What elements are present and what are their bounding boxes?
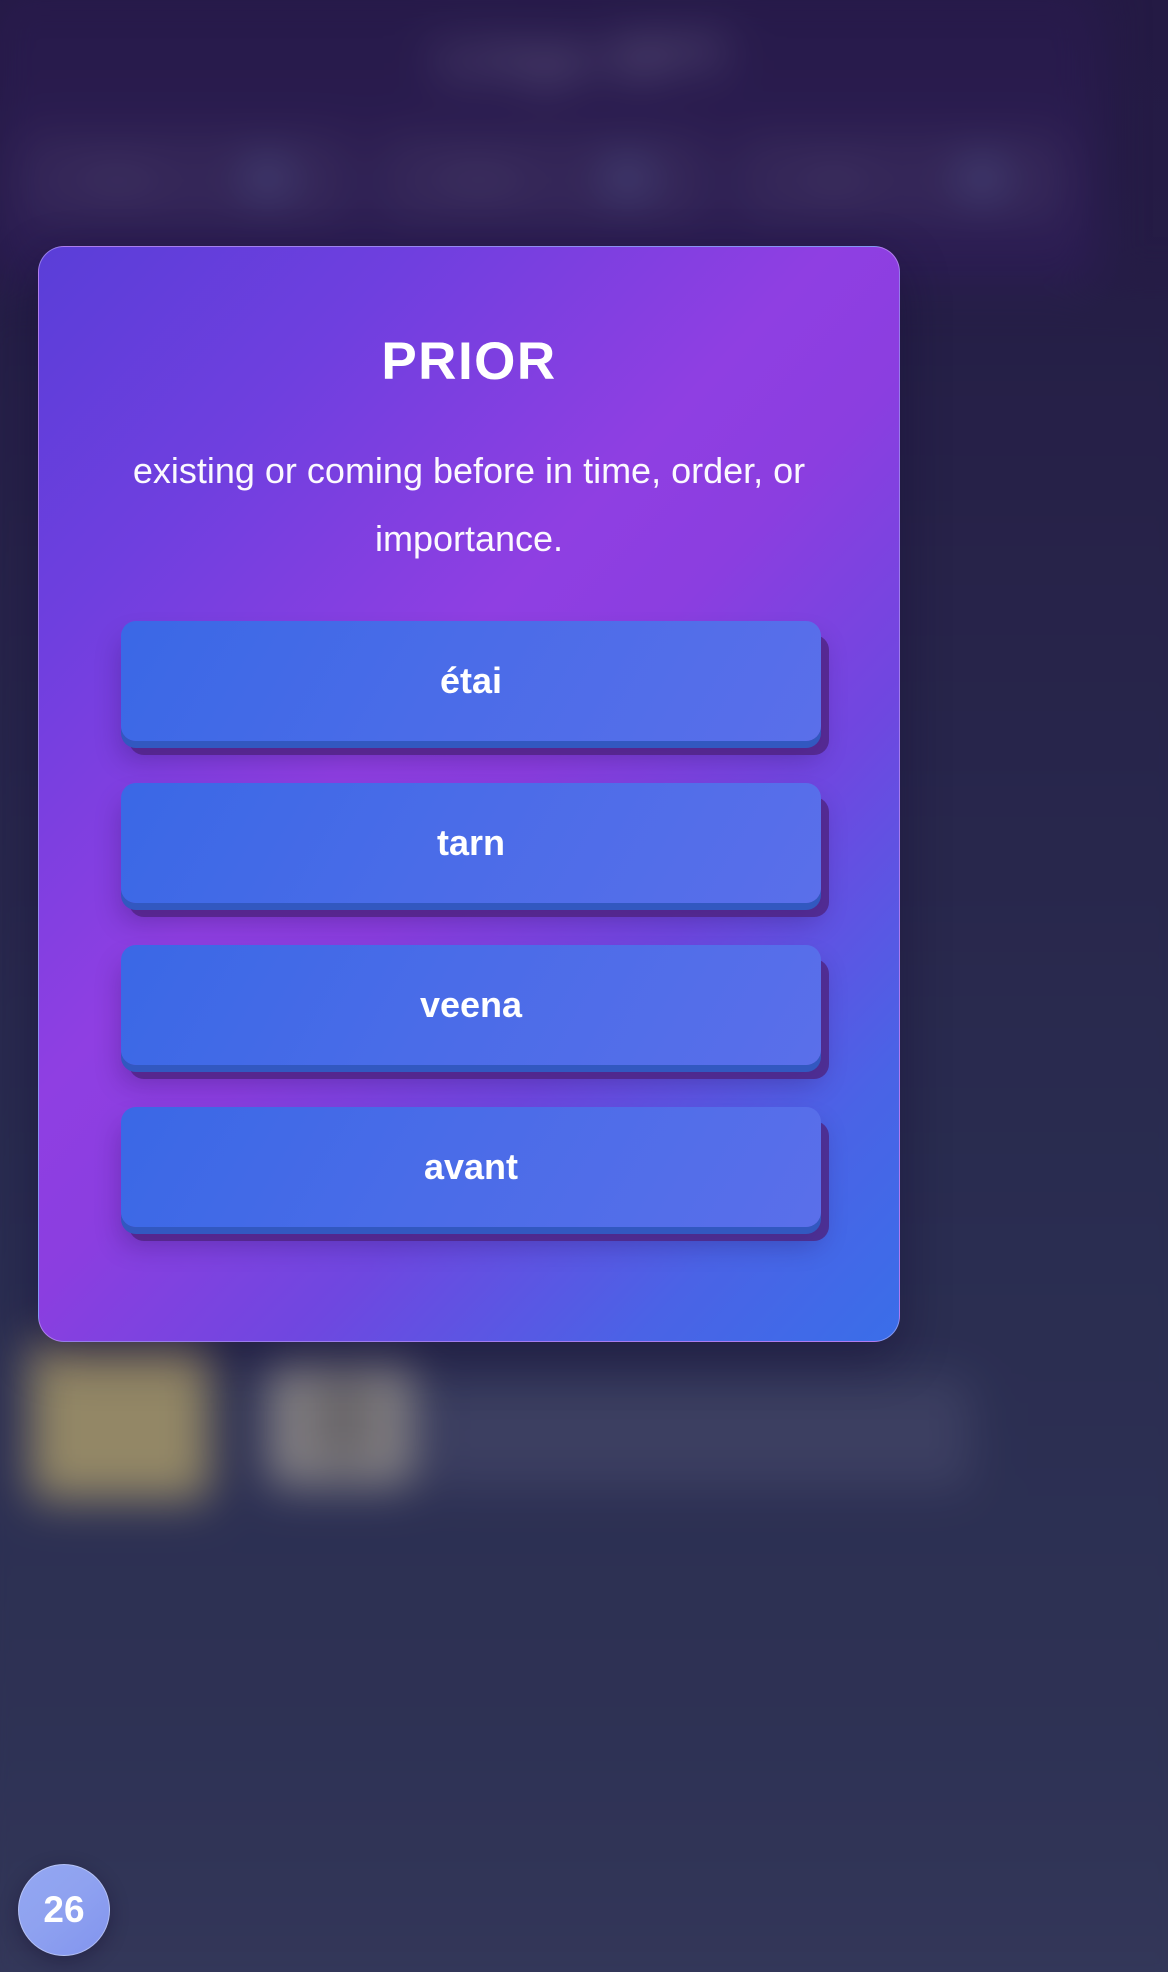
answer-option-4[interactable]: avant xyxy=(121,1107,821,1227)
answer-option-2[interactable]: tarn xyxy=(121,783,821,903)
answer-option-label: tarn xyxy=(121,783,821,903)
answer-option-1[interactable]: étai xyxy=(121,621,821,741)
score-badge[interactable]: 26 xyxy=(18,1864,110,1956)
question-definition: existing or coming before in time, order… xyxy=(109,437,829,572)
answer-options-list: étai tarn veena avant xyxy=(121,621,821,1227)
question-word: PRIOR xyxy=(39,331,899,392)
question-modal: PRIOR existing or coming before in time,… xyxy=(38,246,900,1342)
answer-option-label: veena xyxy=(121,945,821,1065)
answer-option-label: étai xyxy=(121,621,821,741)
answer-option-3[interactable]: veena xyxy=(121,945,821,1065)
answer-option-label: avant xyxy=(121,1107,821,1227)
